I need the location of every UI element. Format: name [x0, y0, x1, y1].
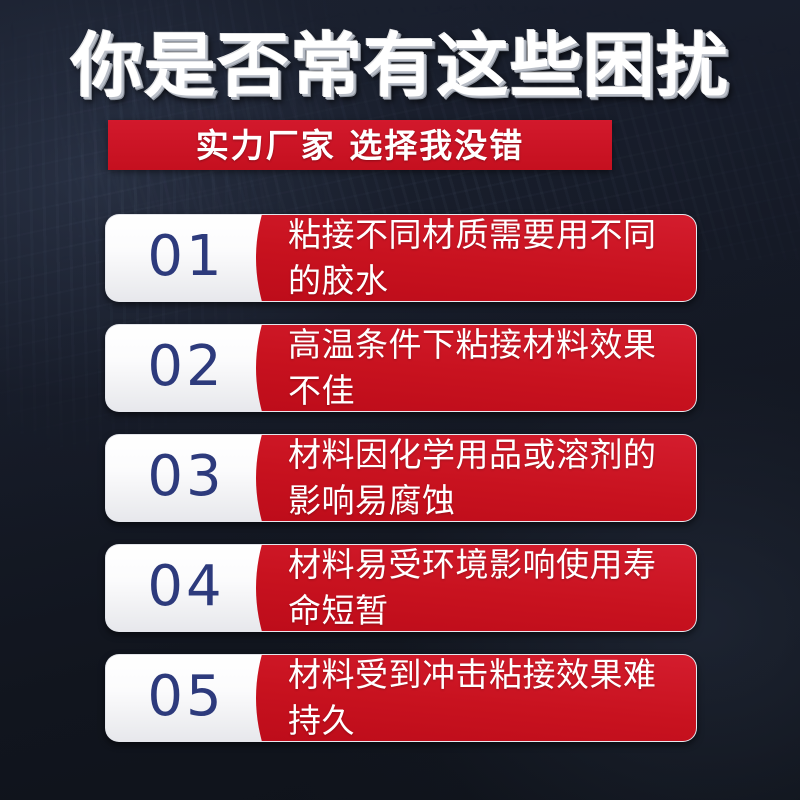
list-item-text: 材料易受环境影响使用寿命短暂 — [288, 545, 686, 631]
list-item-number: 04 — [106, 545, 266, 631]
list-item-number: 01 — [106, 215, 266, 301]
list-item: 01粘接不同材质需要用不同的胶水 — [105, 214, 697, 302]
list-item-text-container: 粘接不同材质需要用不同的胶水 — [288, 215, 686, 301]
list-item-number: 05 — [106, 655, 266, 741]
list-item-text: 材料因化学用品或溶剂的影响易腐蚀 — [288, 435, 686, 521]
problem-list: 01粘接不同材质需要用不同的胶水02高温条件下粘接材料效果不佳03材料因化学用品… — [105, 214, 697, 764]
list-item: 05材料受到冲击粘接效果难持久 — [105, 654, 697, 742]
list-item: 03材料因化学用品或溶剂的影响易腐蚀 — [105, 434, 697, 522]
subtitle-banner: 实力厂家 选择我没错 — [108, 120, 612, 170]
list-item-text-container: 材料易受环境影响使用寿命短暂 — [288, 545, 686, 631]
list-item-text: 粘接不同材质需要用不同的胶水 — [288, 215, 686, 301]
list-item-text-container: 材料受到冲击粘接效果难持久 — [288, 655, 686, 741]
subtitle-text: 实力厂家 选择我没错 — [196, 129, 525, 162]
list-item-text: 高温条件下粘接材料效果不佳 — [288, 325, 686, 411]
list-item-text-container: 材料因化学用品或溶剂的影响易腐蚀 — [288, 435, 686, 521]
list-item: 04材料易受环境影响使用寿命短暂 — [105, 544, 697, 632]
list-item-number: 02 — [106, 325, 266, 411]
list-item: 02高温条件下粘接材料效果不佳 — [105, 324, 697, 412]
list-item-text: 材料受到冲击粘接效果难持久 — [288, 655, 686, 741]
list-item-number: 03 — [106, 435, 266, 521]
promo-poster: 你是否常有这些困扰 实力厂家 选择我没错 01粘接不同材质需要用不同的胶水02高… — [0, 0, 800, 800]
list-item-text-container: 高温条件下粘接材料效果不佳 — [288, 325, 686, 411]
page-title: 你是否常有这些困扰 — [0, 24, 800, 108]
